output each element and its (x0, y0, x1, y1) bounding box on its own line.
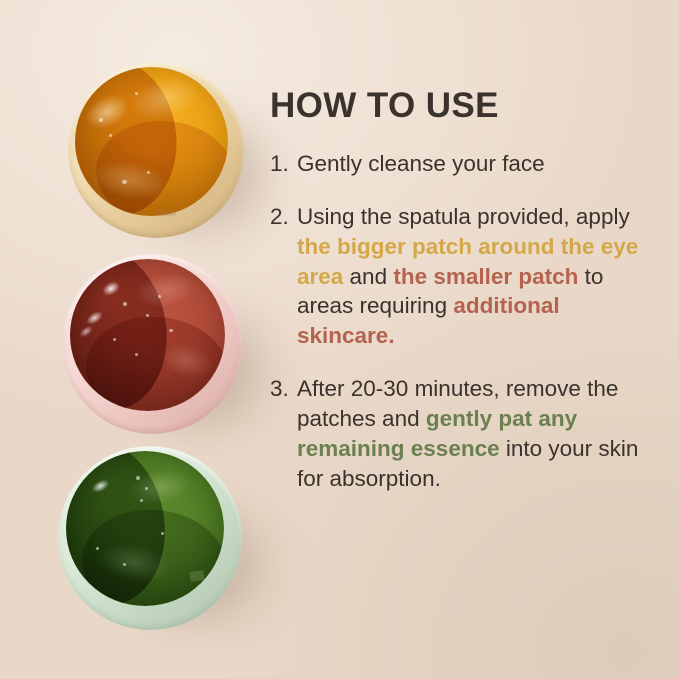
honey-gel-eye-patch-jar (68, 62, 244, 238)
how-to-use-infographic: HOW TO USE 1. Gently cleanse your face 2… (0, 0, 679, 679)
step-number: 1. (270, 149, 297, 179)
step-segment-plain: Using the spatula provided, apply (297, 204, 630, 229)
step-number: 2. (270, 202, 297, 232)
instructions-panel: HOW TO USE 1. Gently cleanse your face 2… (270, 88, 662, 494)
jar-body (68, 62, 244, 238)
green-gel-eye-patch-jar (58, 446, 242, 630)
jar-well (66, 451, 224, 606)
gel-surface (75, 67, 228, 216)
jar-well (75, 67, 228, 216)
jar-body (58, 446, 242, 630)
gel-surface (66, 451, 224, 606)
step-segment-plain: and (343, 264, 393, 289)
page-title: HOW TO USE (270, 88, 662, 125)
instruction-step-3: 3. After 20-30 minutes, remove the patch… (270, 374, 662, 494)
highlight-smaller-patch: the smaller patch (393, 264, 578, 289)
instruction-step-1: 1. Gently cleanse your face (270, 149, 662, 179)
jar-well (70, 259, 225, 411)
step-text: After 20-30 minutes, remove the patches … (297, 374, 662, 494)
step-text: Gently cleanse your face (297, 149, 662, 179)
jar-body (62, 254, 242, 434)
red-gel-eye-patch-jar (62, 254, 242, 434)
gel-surface (70, 259, 225, 411)
step-text: Using the spatula provided, apply the bi… (297, 202, 662, 352)
step-segment-plain: Gently cleanse your face (297, 151, 545, 176)
step-number: 3. (270, 374, 297, 404)
instruction-step-2: 2. Using the spatula provided, apply the… (270, 202, 662, 352)
